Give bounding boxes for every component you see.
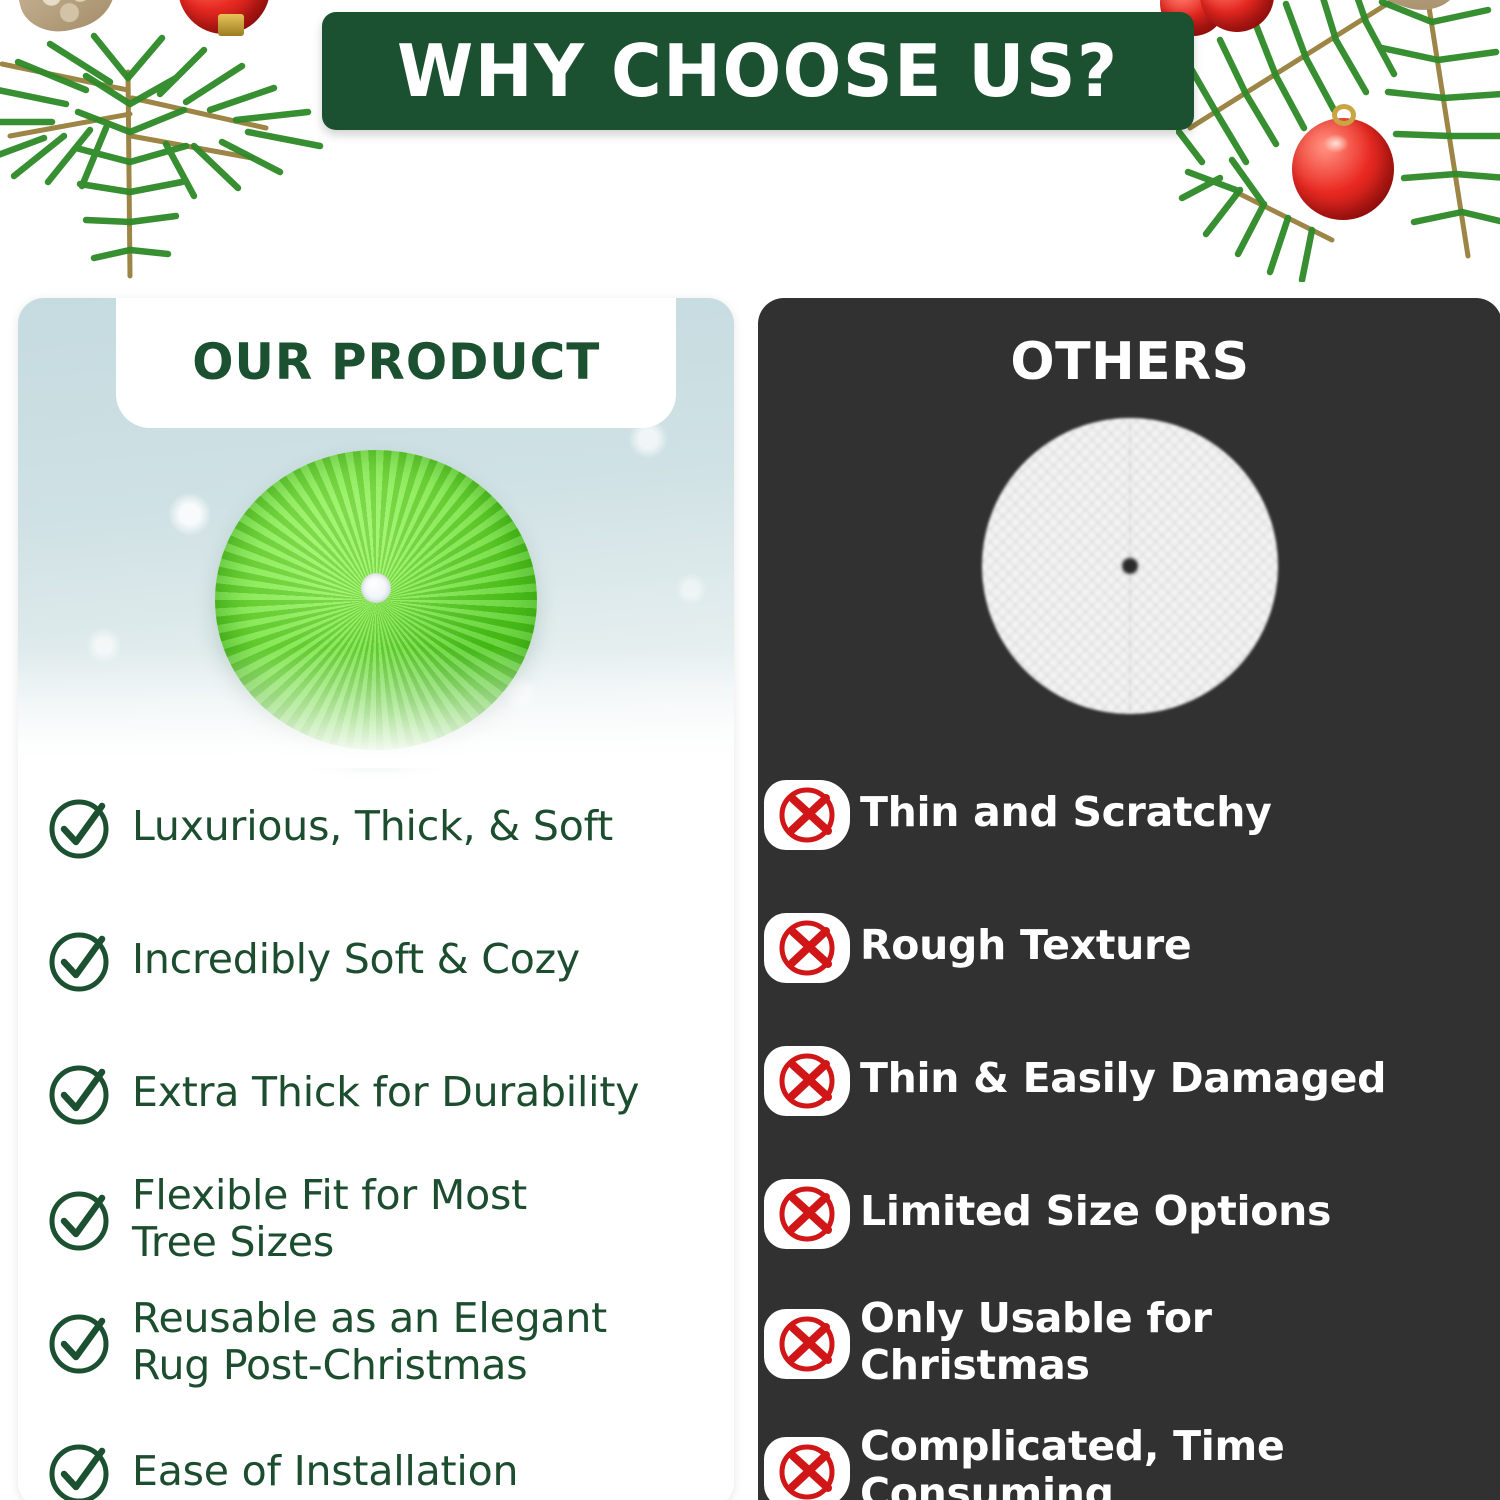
- pinecone-icon: [10, 0, 122, 40]
- list-item-label: Limited Size Options: [860, 1188, 1331, 1235]
- list-item[interactable]: Ease of Installation: [44, 1405, 716, 1500]
- list-item-label: Thin and Scratchy: [860, 789, 1272, 836]
- red-bauble-icon: [1292, 118, 1394, 220]
- list-item[interactable]: Thin & Easily Damaged: [772, 1012, 1484, 1145]
- others-list: Thin and Scratchy Rough Texture: [758, 746, 1500, 1500]
- check-icon: [44, 1056, 118, 1130]
- list-item-label: Extra Thick for Durability: [132, 1069, 639, 1116]
- comparison-columns: OUR PRODUCT Luxurious, Thick, & Soft: [0, 298, 1500, 1500]
- bauble-cap-icon: [218, 14, 244, 36]
- our-product-heading: OUR PRODUCT: [192, 333, 600, 391]
- our-product-list: Luxurious, Thick, & Soft Incredibly Soft…: [18, 760, 734, 1500]
- pine-branch-icon: [0, 0, 330, 286]
- check-icon: [44, 1182, 118, 1256]
- list-item[interactable]: Complicated, Time Consuming: [772, 1406, 1484, 1500]
- x-circle-icon: [772, 1042, 846, 1116]
- list-item-label: Flexible Fit for Most Tree Sizes: [132, 1172, 602, 1265]
- check-icon: [44, 1305, 118, 1379]
- list-item-label: Only Usable for Christmas: [860, 1295, 1260, 1389]
- list-item[interactable]: Only Usable for Christmas: [772, 1278, 1484, 1406]
- list-item[interactable]: Flexible Fit for Most Tree Sizes: [44, 1159, 716, 1279]
- x-circle-icon: [772, 776, 846, 850]
- our-product-panel: OUR PRODUCT Luxurious, Thick, & Soft: [18, 298, 734, 1500]
- list-item[interactable]: Limited Size Options: [772, 1145, 1484, 1278]
- x-circle-icon: [772, 1433, 846, 1500]
- red-bauble-icon: [178, 0, 270, 34]
- list-item-label: Complicated, Time Consuming: [860, 1423, 1330, 1500]
- check-icon: [44, 1435, 118, 1500]
- x-circle-icon: [772, 1175, 846, 1249]
- white-thin-disc-image: [982, 418, 1278, 714]
- decoration-top-left: [0, 0, 330, 286]
- infographic-root: WHY CHOOSE US? OUR PRODUCT: [0, 0, 1500, 1500]
- decoration-top-right: [1176, 0, 1500, 282]
- bauble-hook-icon: [1332, 104, 1356, 126]
- x-circle-icon: [772, 1305, 846, 1379]
- list-item-label: Incredibly Soft & Cozy: [132, 936, 580, 983]
- list-item[interactable]: Thin and Scratchy: [772, 746, 1484, 879]
- list-item[interactable]: Extra Thick for Durability: [44, 1026, 716, 1159]
- list-item-label: Thin & Easily Damaged: [860, 1055, 1386, 1102]
- pine-branch-icon: [1176, 0, 1500, 282]
- list-item[interactable]: Luxurious, Thick, & Soft: [44, 760, 716, 893]
- check-icon: [44, 923, 118, 997]
- skirt-center-hole: [361, 573, 391, 603]
- page-title-banner: WHY CHOOSE US?: [322, 12, 1194, 130]
- list-item[interactable]: Incredibly Soft & Cozy: [44, 893, 716, 1026]
- red-berry-icon: [1200, 0, 1274, 32]
- our-product-header: OUR PRODUCT: [116, 298, 676, 428]
- pinecone-icon: [1356, 0, 1471, 21]
- x-circle-icon: [772, 909, 846, 983]
- list-item-label: Ease of Installation: [132, 1448, 518, 1495]
- others-header: OTHERS: [758, 298, 1500, 426]
- others-heading: OTHERS: [1010, 332, 1249, 392]
- list-item[interactable]: Rough Texture: [772, 879, 1484, 1012]
- list-item-label: Reusable as an Elegant Rug Post-Christma…: [132, 1295, 692, 1388]
- list-item-label: Luxurious, Thick, & Soft: [132, 803, 613, 850]
- page-title: WHY CHOOSE US?: [397, 29, 1119, 113]
- others-panel: OTHERS Thin and Scratchy: [758, 298, 1500, 1500]
- list-item[interactable]: Reusable as an Elegant Rug Post-Christma…: [44, 1279, 716, 1405]
- green-tree-skirt-image: [215, 450, 537, 750]
- check-icon: [44, 790, 118, 864]
- list-item-label: Rough Texture: [860, 922, 1191, 969]
- disc-center-hole: [1122, 558, 1138, 574]
